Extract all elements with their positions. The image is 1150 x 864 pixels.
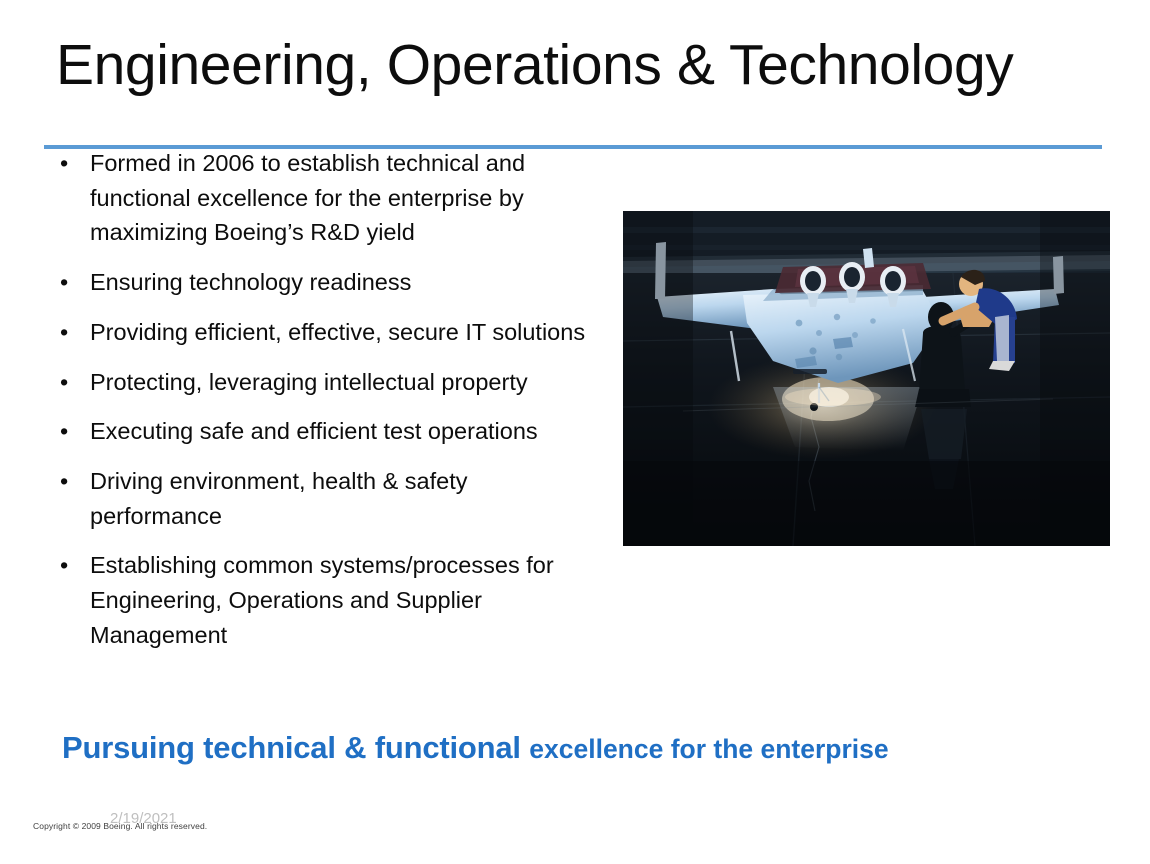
list-item-label: Driving environment, health & safety per… <box>90 464 592 533</box>
list-item-label: Ensuring technology readiness <box>90 265 592 300</box>
tagline: Pursuing technical & functional excellen… <box>62 730 889 766</box>
bullet-list: • Formed in 2006 to establish technical … <box>52 146 592 667</box>
list-item-label: Providing efficient, effective, secure I… <box>90 315 592 350</box>
list-item: • Providing efficient, effective, secure… <box>52 315 592 350</box>
bullet-dot-icon: • <box>60 146 68 181</box>
list-item-label: Executing safe and efficient test operat… <box>90 414 592 449</box>
aircraft-night-photo-icon <box>623 211 1110 546</box>
list-item-label: Establishing common systems/processes fo… <box>90 548 592 652</box>
slide-photo <box>623 211 1110 546</box>
list-item: • Establishing common systems/processes … <box>52 548 592 652</box>
list-item: • Executing safe and efficient test oper… <box>52 414 592 449</box>
bullet-dot-icon: • <box>60 315 68 350</box>
bullet-dot-icon: • <box>60 265 68 300</box>
presentation-slide: Engineering, Operations & Technology • F… <box>0 0 1150 864</box>
bullet-dot-icon: • <box>60 365 68 400</box>
bullet-dot-icon: • <box>60 464 68 499</box>
list-item: • Ensuring technology readiness <box>52 265 592 300</box>
list-item: • Protecting, leveraging intellectual pr… <box>52 365 592 400</box>
footer-copyright: Copyright © 2009 Boeing. All rights rese… <box>33 821 207 831</box>
bullet-dot-icon: • <box>60 414 68 449</box>
tagline-tail: excellence for the enterprise <box>529 734 888 764</box>
bullet-dot-icon: • <box>60 548 68 583</box>
list-item-label: Protecting, leveraging intellectual prop… <box>90 365 592 400</box>
tagline-lead: Pursuing technical & functional <box>62 730 529 765</box>
list-item: • Driving environment, health & safety p… <box>52 464 592 533</box>
list-item: • Formed in 2006 to establish technical … <box>52 146 592 250</box>
page-title: Engineering, Operations & Technology <box>56 36 1106 96</box>
list-item-label: Formed in 2006 to establish technical an… <box>90 146 592 250</box>
